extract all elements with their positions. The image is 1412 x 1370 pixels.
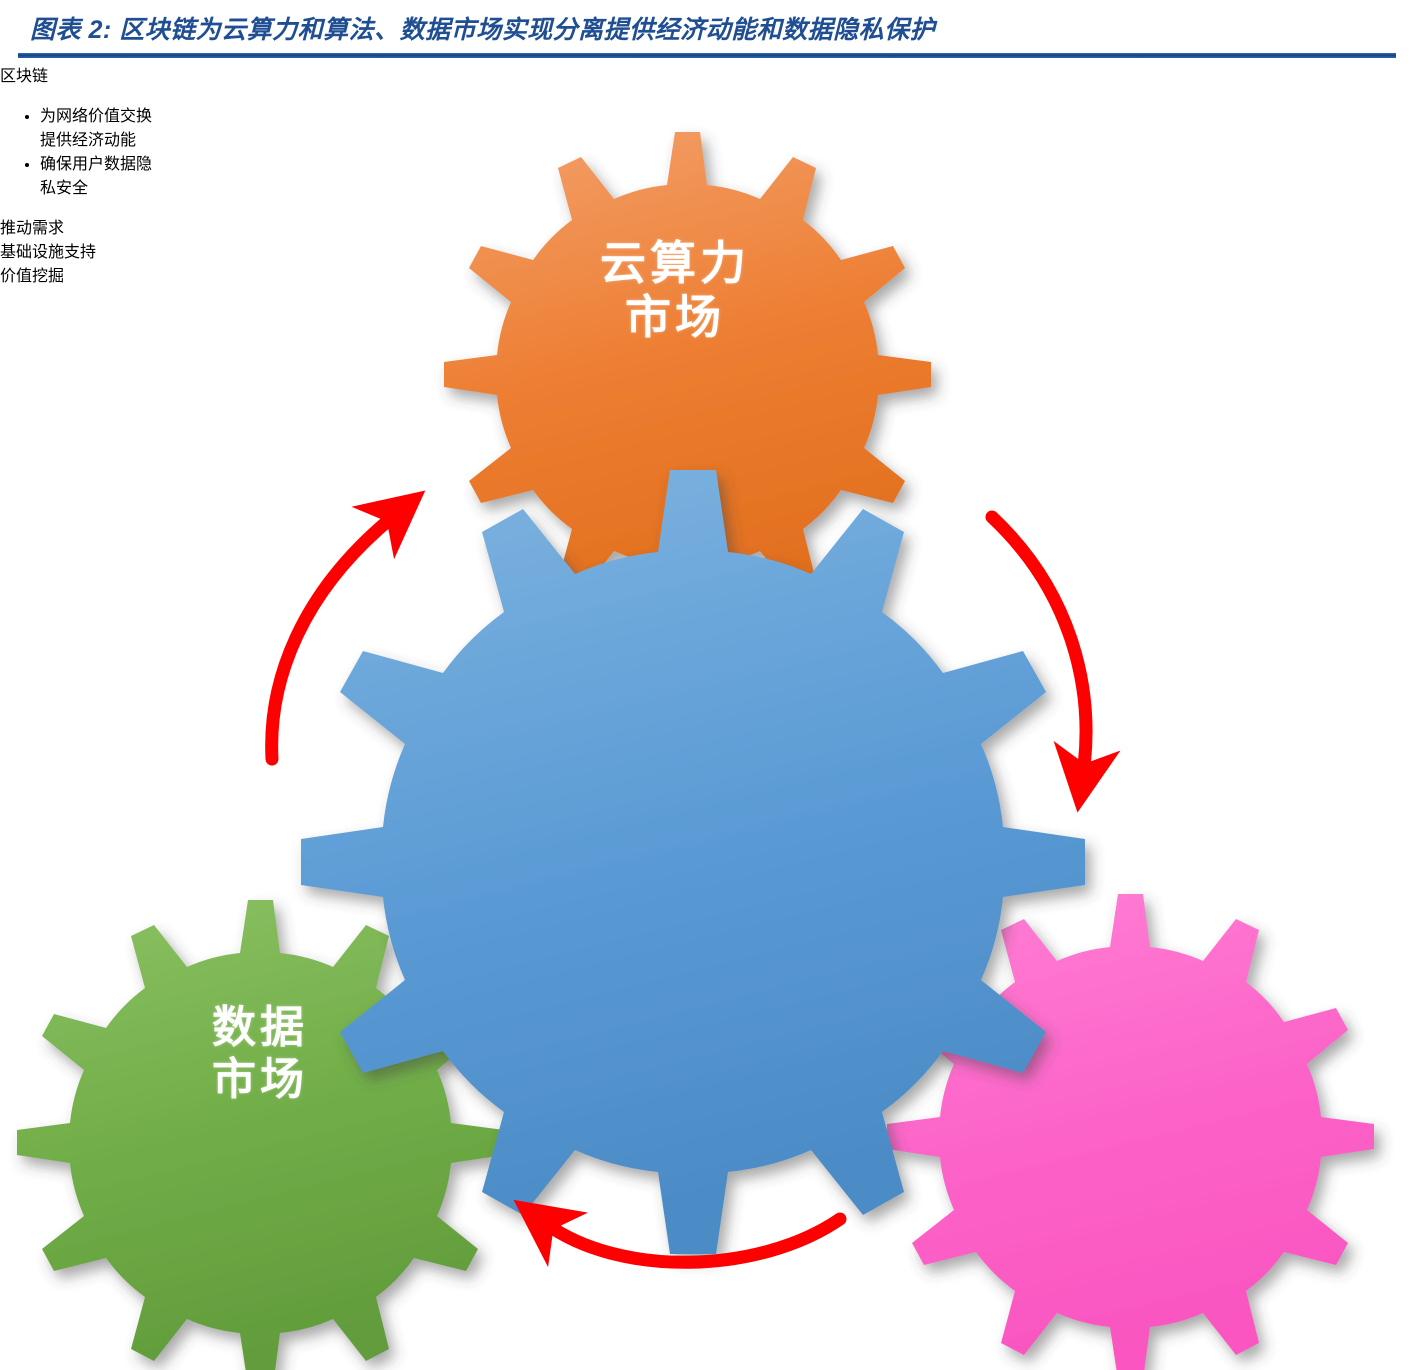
arrow-infrastructure-support bbox=[992, 517, 1086, 774]
arrow-drive-demand bbox=[272, 515, 395, 759]
page-title: 图表 2: 区块链为云算力和算法、数据市场实现分离提供经济动能和数据隐私保护 bbox=[30, 10, 935, 46]
gear-diagram: 云算力 市场 数据 市场 算法 市场 区块链 为网络价值交换 提供经济动能 确保… bbox=[0, 62, 1412, 1370]
arrows-layer bbox=[0, 62, 1412, 1370]
chart-header: 图表 2: 区块链为云算力和算法、数据市场实现分离提供经济动能和数据隐私保护 bbox=[0, 0, 1412, 62]
arrow-value-mining bbox=[545, 1219, 840, 1262]
title-divider bbox=[18, 53, 1396, 58]
